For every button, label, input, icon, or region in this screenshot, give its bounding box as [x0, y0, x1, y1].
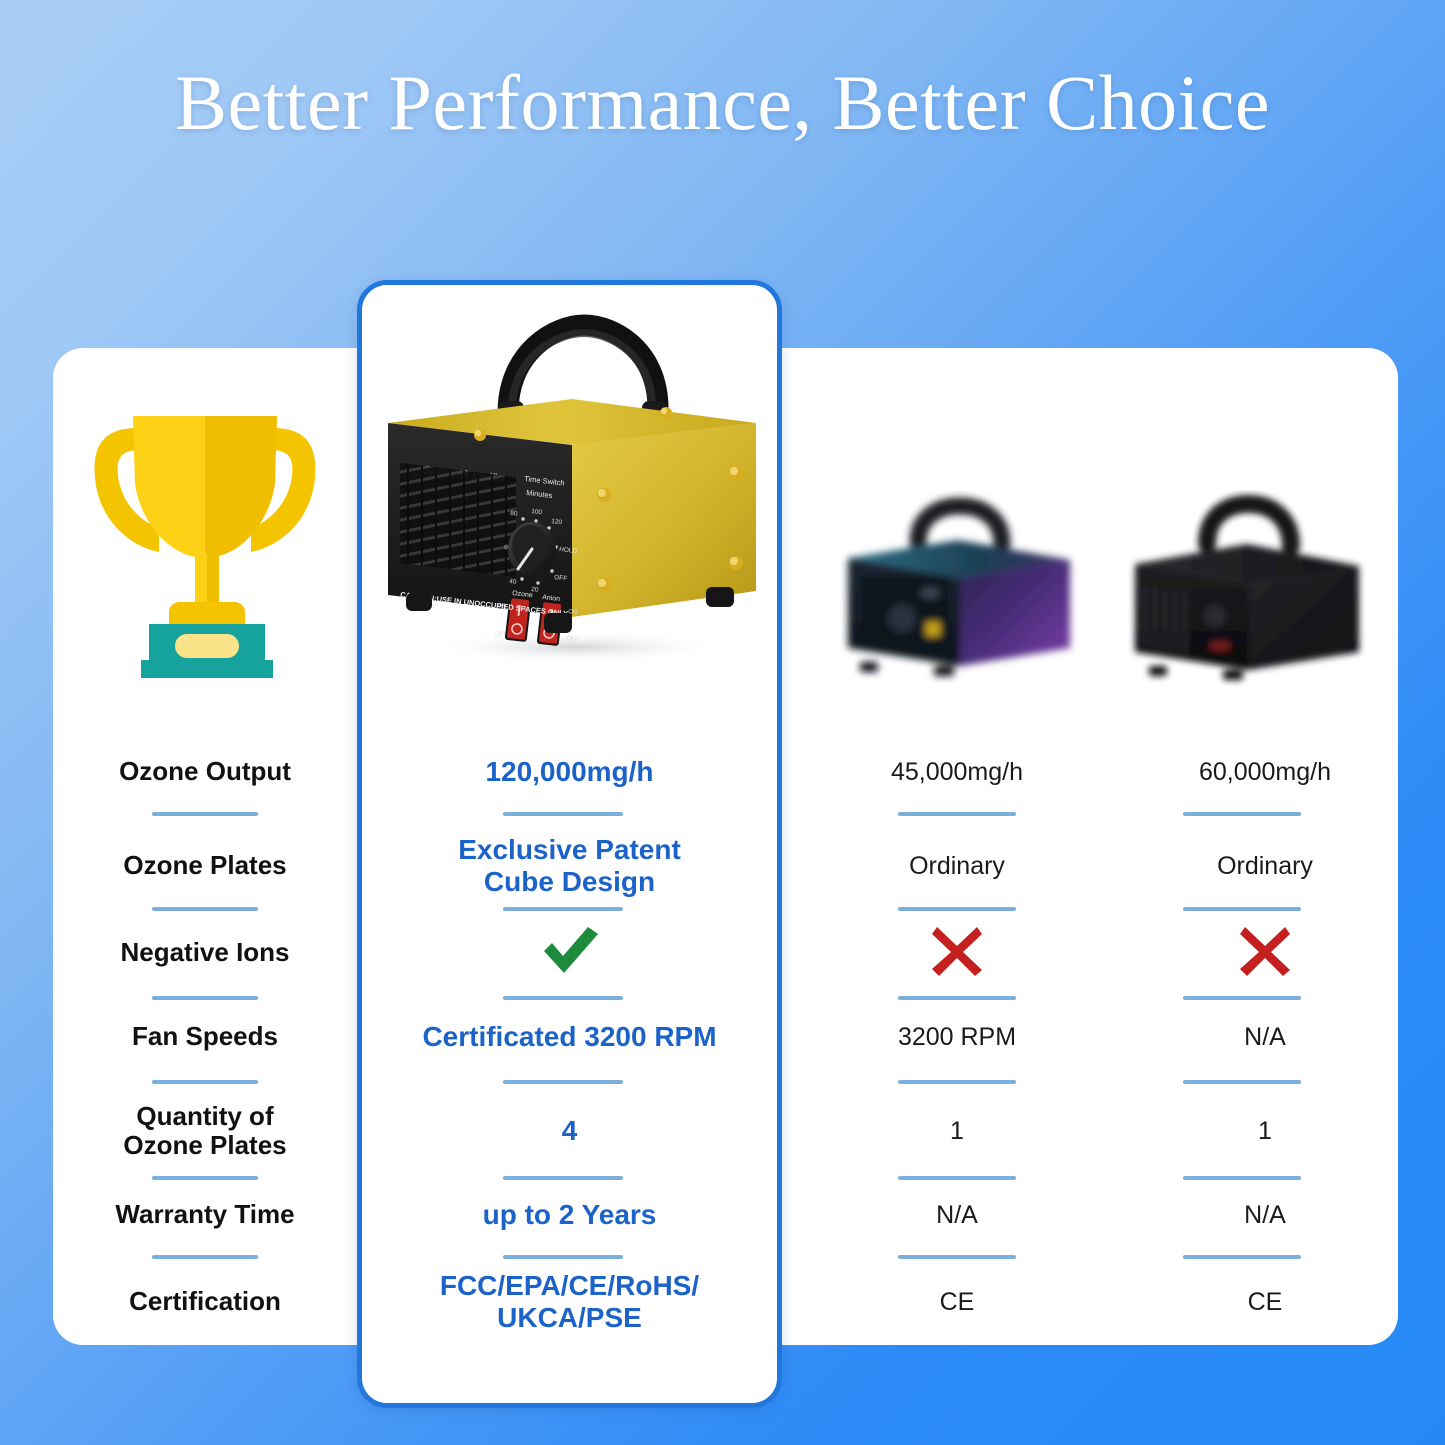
featured-value: up to 2 Years — [362, 1190, 777, 1240]
table-row: Fan Speeds Certificated 3200 RPM 3200 RP… — [0, 1012, 1445, 1062]
competitor-a-value: 45,000mg/h — [782, 745, 1132, 799]
table-row: Ozone Plates Exclusive PatentCube Design… — [0, 832, 1445, 900]
row-divider — [152, 1176, 258, 1180]
competitor-b-value: N/A — [1132, 1190, 1398, 1240]
row-divider — [503, 812, 623, 816]
row-divider — [503, 1255, 623, 1259]
competitor-a-value: 3200 RPM — [782, 1012, 1132, 1062]
row-label: Warranty Time — [53, 1190, 357, 1240]
row-divider — [1183, 1255, 1301, 1259]
row-divider — [503, 1080, 623, 1084]
table-row: Warranty Time up to 2 Years N/A N/A — [0, 1190, 1445, 1240]
row-divider — [503, 996, 623, 1000]
competitor-a-value: CE — [782, 1268, 1132, 1336]
competitor-b-value: 60,000mg/h — [1132, 745, 1398, 799]
row-label: Quantity ofOzone Plates — [53, 1098, 357, 1164]
featured-value: 4 — [362, 1098, 777, 1164]
featured-value: FCC/EPA/CE/RoHS/UKCA/PSE — [362, 1268, 777, 1336]
row-divider — [1183, 907, 1301, 911]
row-divider — [503, 907, 623, 911]
competitor-a-value: Ordinary — [782, 832, 1132, 900]
row-label: Ozone Plates — [53, 832, 357, 900]
competitor-b-value — [1132, 922, 1398, 984]
row-label: Fan Speeds — [53, 1012, 357, 1062]
row-divider — [152, 907, 258, 911]
row-divider — [898, 812, 1016, 816]
competitor-b-value: 1 — [1132, 1098, 1398, 1164]
competitor-b-value: CE — [1132, 1268, 1398, 1336]
competitor-a-value: N/A — [782, 1190, 1132, 1240]
competitor-a-value — [782, 922, 1132, 984]
cross-icon — [1237, 923, 1293, 984]
table-row: Ozone Output 120,000mg/h 45,000mg/h 60,0… — [0, 745, 1445, 799]
row-divider — [898, 1255, 1016, 1259]
row-divider — [152, 1080, 258, 1084]
row-divider — [1183, 996, 1301, 1000]
check-icon — [538, 923, 602, 984]
featured-value — [362, 922, 777, 984]
competitor-b-value: N/A — [1132, 1012, 1398, 1062]
cross-icon — [929, 923, 985, 984]
row-divider — [1183, 812, 1301, 816]
row-divider — [1183, 1080, 1301, 1084]
featured-value: Certificated 3200 RPM — [362, 1012, 777, 1062]
row-divider — [898, 996, 1016, 1000]
row-divider — [898, 1080, 1016, 1084]
table-row: Certification FCC/EPA/CE/RoHS/UKCA/PSE C… — [0, 1268, 1445, 1336]
table-row: Negative Ions — [0, 922, 1445, 984]
row-label: Certification — [53, 1268, 357, 1336]
row-divider — [898, 1176, 1016, 1180]
table-row: Quantity ofOzone Plates 4 1 1 — [0, 1098, 1445, 1164]
row-label: Negative Ions — [53, 922, 357, 984]
competitor-a-value: 1 — [782, 1098, 1132, 1164]
row-divider — [503, 1176, 623, 1180]
comparison-table: Ozone Output 120,000mg/h 45,000mg/h 60,0… — [0, 0, 1445, 1445]
row-divider — [152, 1255, 258, 1259]
row-label: Ozone Output — [53, 745, 357, 799]
featured-value: Exclusive PatentCube Design — [362, 832, 777, 900]
row-divider — [152, 812, 258, 816]
row-divider — [898, 907, 1016, 911]
row-divider — [1183, 1176, 1301, 1180]
featured-value: 120,000mg/h — [362, 745, 777, 799]
row-divider — [152, 996, 258, 1000]
competitor-b-value: Ordinary — [1132, 832, 1398, 900]
